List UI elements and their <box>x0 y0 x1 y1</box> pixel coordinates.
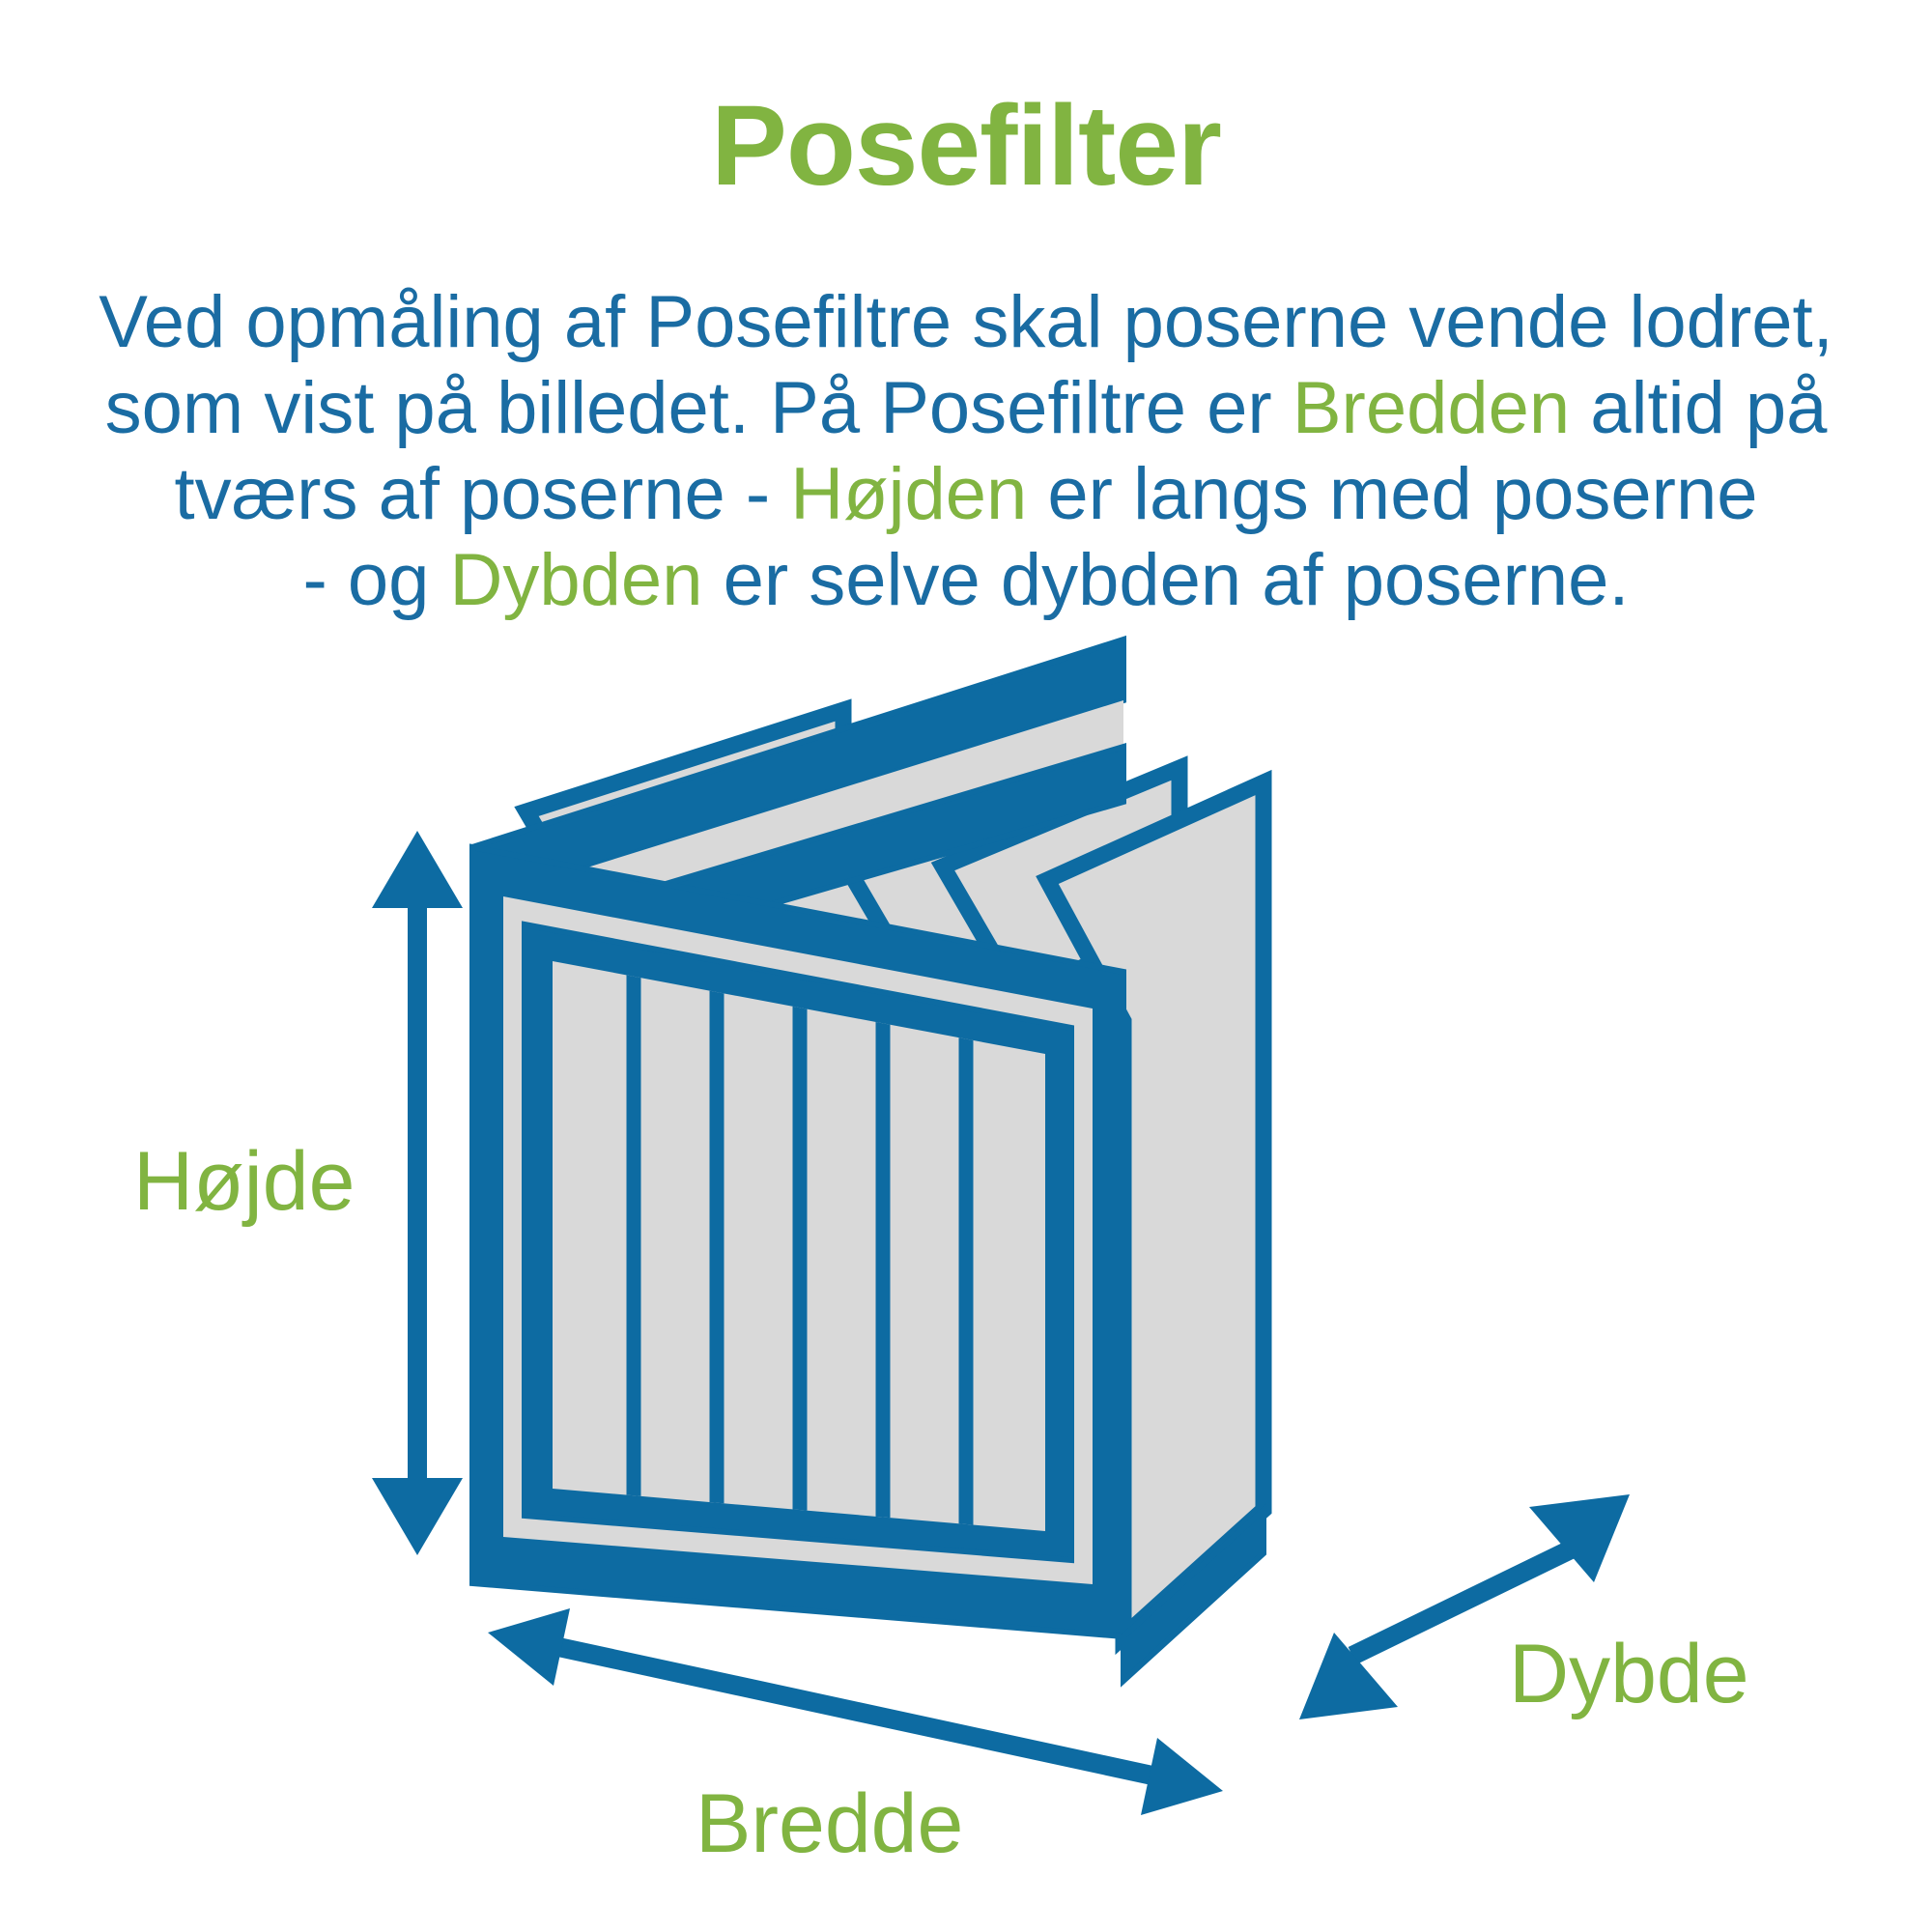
width-arrow-head-left <box>488 1608 570 1686</box>
dimension-label-depth: Dybde <box>1509 1633 1749 1716</box>
dimension-label-height: Højde <box>133 1140 355 1223</box>
height-arrow-head-down <box>372 1478 463 1555</box>
width-arrow-head-right <box>1141 1738 1223 1815</box>
filter-front-face <box>472 847 1123 1636</box>
dimension-label-width: Bredde <box>696 1782 963 1865</box>
width-arrow-shaft <box>536 1642 1175 1780</box>
poster-root: Posefilter Ved opmåling af Posefiltre sk… <box>0 0 1932 1932</box>
height-arrow-head-up <box>372 831 463 908</box>
height-arrow <box>372 831 463 1555</box>
